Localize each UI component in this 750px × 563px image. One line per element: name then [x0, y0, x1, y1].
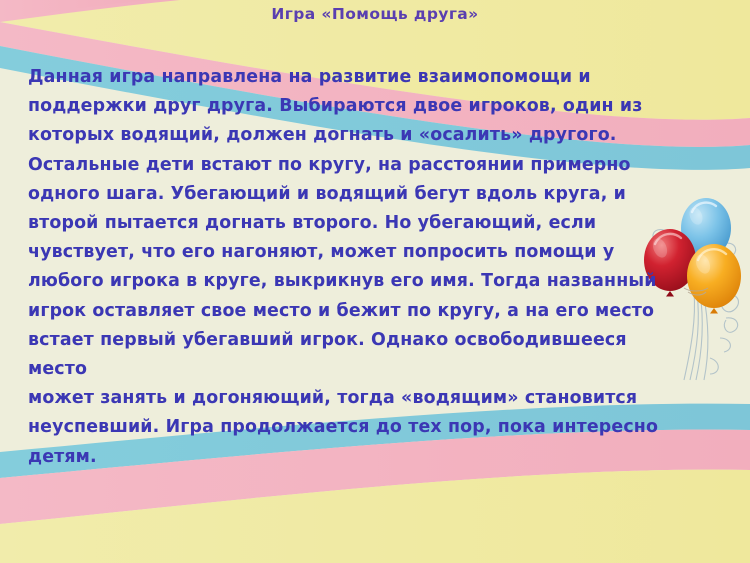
game-description-text: Данная игра направлена на развитие взаим… — [28, 63, 688, 472]
page-title: Игра «Помощь друга» — [0, 5, 750, 23]
slide-canvas: Игра «Помощь друга» Данная игра направле… — [0, 0, 750, 563]
